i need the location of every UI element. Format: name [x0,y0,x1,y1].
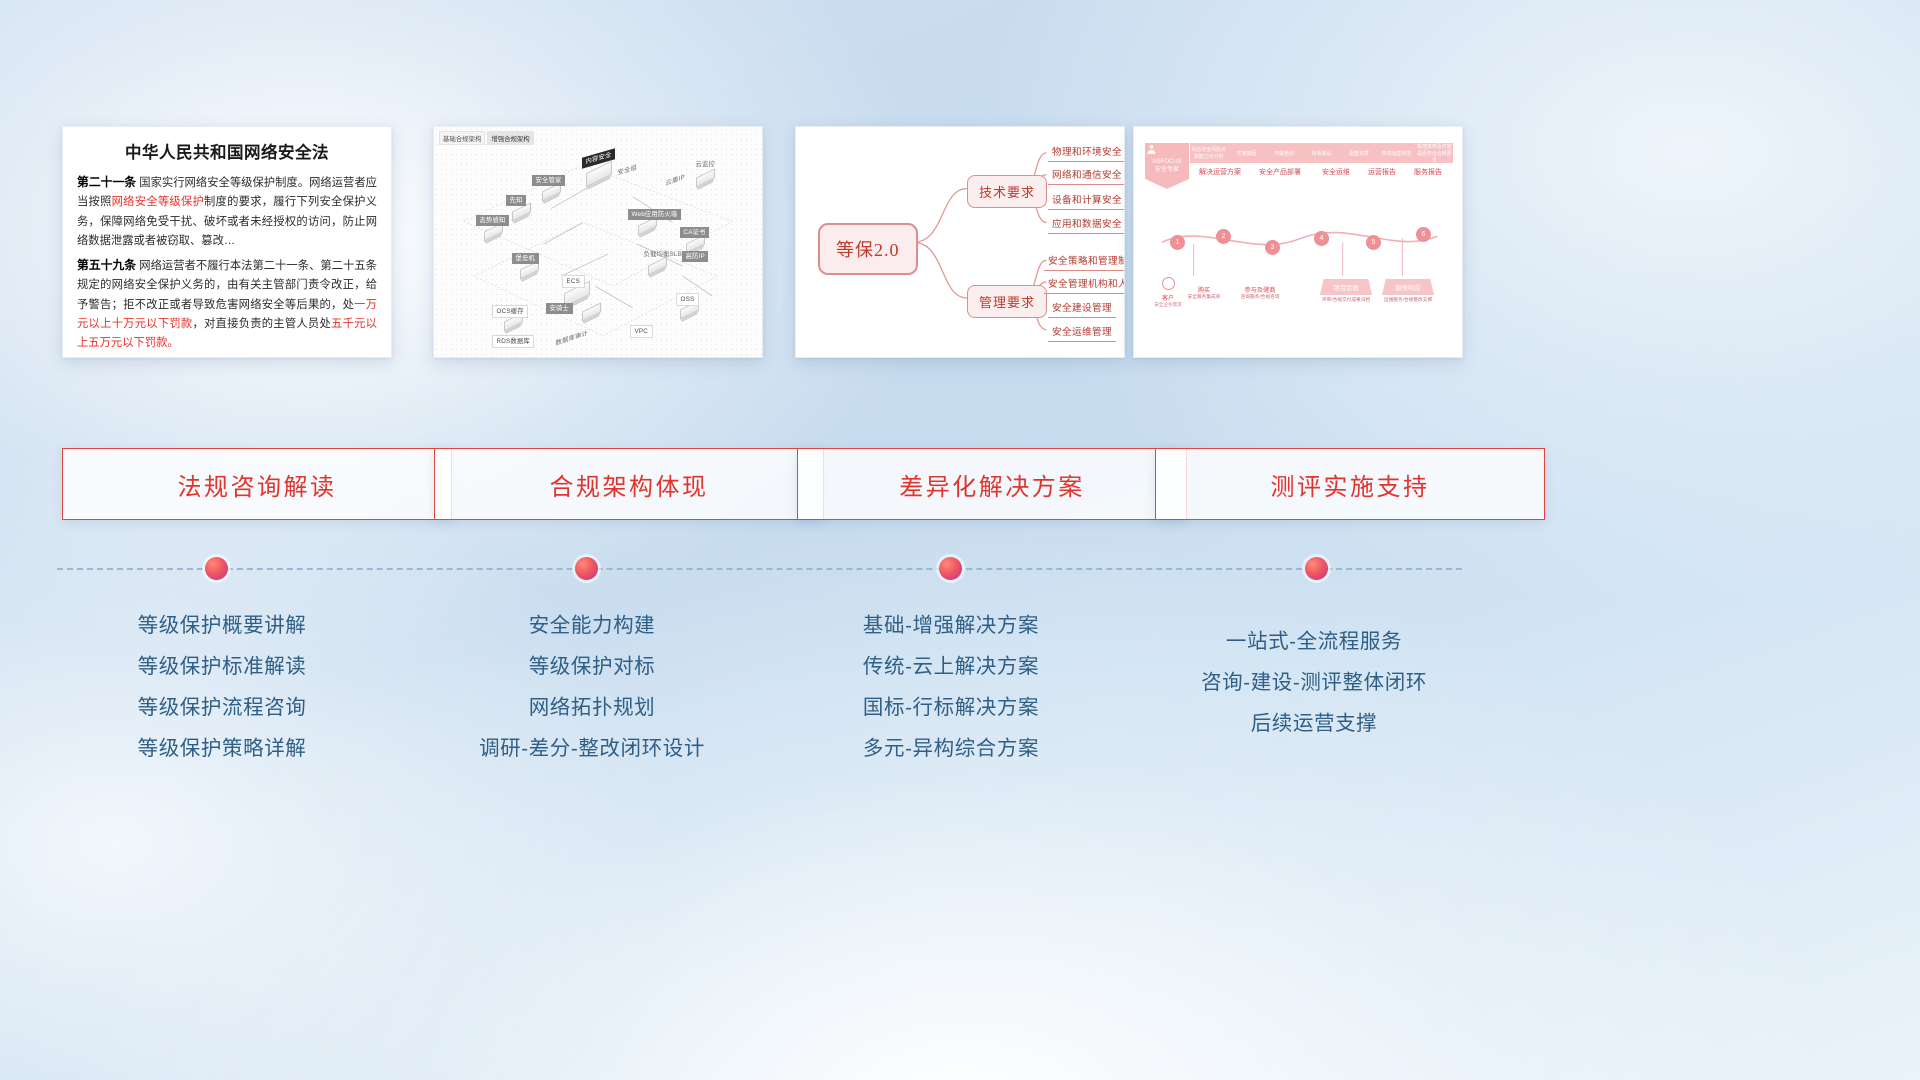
timeline-dot-4[interactable] [1305,557,1328,580]
law-body: 中华人民共和国网络安全法 第二十一条 国家实行网络安全等级保护制度。网络运营者应… [63,127,391,358]
law-article-59-text-b: ，对直接负责的主管人员处 [192,318,331,330]
tag-participate: 参与及磋商 咨询服务/合规咨询 [1232,285,1288,300]
trapezoid-service-response-sub: 运维服务/合规整改支撑 [1376,297,1440,303]
node-ca-certificate: CA证书 [680,227,709,238]
list-item: 一站式-全流程服务 [1114,621,1514,662]
customer-sublabel: 安全业务需求 [1148,302,1188,308]
heading-regulation-consulting-label: 法规咨询解读 [178,467,337,502]
heading-regulation-consulting[interactable]: 法规咨询解读 [62,448,452,520]
card-architecture: 基础合规架构 增强合规架构 [433,126,763,358]
step-dot-3: 3 [1265,240,1280,255]
mindmap-diagram: 等保2.0 技术要求 管理要求 物理和环境安全 网络和通信安全 设备和计算安全 … [796,127,1124,357]
list-item: 国标-行标解决方案 [751,687,1151,728]
tab-basic-compliance[interactable]: 基础合规架构 [439,131,485,145]
list-item: 传统-云上解决方案 [751,646,1151,687]
nsfocus-brand-line2: 安全专家 [1155,166,1179,174]
node-waf: Web应用防火墙 [628,209,681,220]
tag-purchase-sub: 安全服务集成商 [1186,294,1222,300]
ribbon-item-1: 实施加固 [1228,150,1266,157]
column-differentiated-solution: 基础-增强解决方案 传统-云上解决方案 国标-行标解决方案 多元-异构综合方案 [751,605,1151,769]
timeline-dot-2[interactable] [575,557,598,580]
card-law: 中华人民共和国网络安全法 第二十一条 国家实行网络安全等级保护制度。网络运营者应… [62,126,392,358]
node-cloud-monitor: 云监控 [692,159,719,170]
list-item: 后续运营支撑 [1114,703,1514,744]
roadmap-ribbon: 综合安全风险点和能力点分析 实施加固 开展培训 体系建设 配套支撑 形成运营规范… [1190,143,1453,163]
list-item: 等级保护对标 [392,646,792,687]
mindmap-leaf-app-data: 应用和数据安全 [1048,214,1125,234]
step-dot-1: 1 [1170,235,1185,250]
nsfocus-brand-line1: NSFOCUS [1152,158,1181,166]
trapezoid-service-response: 服务响应 [1382,279,1434,295]
list-item: 安全能力构建 [392,605,792,646]
architecture-diagram: 基础合规架构 增强合规架构 [434,127,762,357]
heading-compliance-architecture[interactable]: 合规架构体现 [434,448,824,520]
tag-purchase-title: 购买 [1186,285,1222,294]
mindmap-leaf-physical-env: 物理和环境安全 [1048,142,1125,162]
heading-assessment-support-label: 测评实施支持 [1271,467,1430,502]
ribbon-item-6: 规范落地及实施是否符合合规要求 [1415,143,1453,164]
node-rds-database: RDS数据库 [492,335,534,348]
bullet-columns: 等级保护概要讲解 等级保护标准解读 等级保护流程咨询 等级保护策略详解 安全能力… [0,605,1920,805]
ribbon-item-5: 形成运营规范 [1378,150,1416,157]
headings-row: 法规咨询解读 合规架构体现 差异化解决方案 测评实施支持 [0,448,1920,520]
list-item: 等级保护流程咨询 [22,687,422,728]
node-ecs: ECS [562,275,585,288]
node-anqishi: 安骑士 [546,303,573,314]
roadmap-diagram: NSFOCUS 安全专家 综合安全风险点和能力点分析 实施加固 开展培训 体系建… [1134,127,1462,357]
mindmap-leaf-ops-mgmt: 安全运维管理 [1048,322,1116,342]
heading-differentiated-solution-label: 差异化解决方案 [899,467,1085,502]
law-article-59: 第五十九条 网络运营者不履行本法第二十一条、第二十五条规定的网络安全保护义务的，… [77,255,377,354]
law-article-59-label: 第五十九条 [77,258,136,272]
service-service-report: 服务报告 [1398,167,1458,177]
timeline [57,568,1462,570]
node-situation-awareness: 态势感知 [476,215,509,226]
tab-enhanced-compliance[interactable]: 增强合规架构 [487,131,533,145]
column-assessment-support: 一站式-全流程服务 咨询-建设-测评整体闭环 后续运营支撑 [1114,621,1514,744]
timeline-dot-1[interactable] [205,557,228,580]
ribbon-item-4: 配套支撑 [1340,150,1378,157]
tag-purchase: 购买 安全服务集成商 [1186,285,1222,300]
tag-participate-title: 参与及磋商 [1232,285,1288,294]
law-article-21: 第二十一条 国家实行网络安全等级保护制度。网络运营者应当按照网络安全等级保护制度… [77,172,377,252]
list-item: 多元-异构综合方案 [751,728,1151,769]
node-anti-ddos-ip: 高防IP [682,251,708,262]
customer-person-icon [1162,277,1175,290]
mindmap-leaf-policy-system: 安全策略和管理制度 [1044,251,1125,271]
timeline-dot-3[interactable] [939,557,962,580]
step-dot-4: 4 [1314,231,1329,246]
law-article-21-highlight: 网络安全等级保护 [112,196,204,208]
customer-persona: 客户 安全业务需求 [1148,277,1188,308]
customer-label: 客户 [1148,293,1188,302]
column-regulation-consulting: 等级保护概要讲解 等级保护标准解读 等级保护流程咨询 等级保护策略详解 [22,605,422,769]
trapezoid-project-acceptance-sub: 评审/合规交付成果归档 [1314,297,1378,303]
service-product-deploy: 安全产品部署 [1250,167,1310,177]
list-item: 调研-差分-整改闭环设计 [392,728,792,769]
trapezoid-project-acceptance: 项目验收 [1320,279,1372,295]
card-roadmap: NSFOCUS 安全专家 综合安全风险点和能力点分析 实施加固 开展培训 体系建… [1133,126,1463,358]
mindmap-leaf-device-compute: 设备和计算安全 [1048,190,1125,210]
node-xianzhi: 先知 [506,195,526,206]
poster-stage: 中华人民共和国网络安全法 第二十一条 国家实行网络安全等级保护制度。网络运营者应… [0,0,1920,1080]
step-dot-5: 5 [1366,235,1381,250]
ribbon-item-0: 综合安全风险点和能力点分析 [1190,146,1228,160]
node-ocs-cache: OCS缓存 [492,305,528,318]
tag-participate-sub: 咨询服务/合规咨询 [1232,294,1288,300]
law-article-21-label: 第二十一条 [77,175,136,189]
mindmap-root: 等保2.0 [818,223,918,275]
node-oss: OSS [676,293,699,306]
list-item: 等级保护策略详解 [22,728,422,769]
node-bastion-host: 堡垒机 [512,253,539,264]
cards-row: 中华人民共和国网络安全法 第二十一条 国家实行网络安全等级保护制度。网络运营者应… [0,126,1920,361]
mindmap-branch-technical: 技术要求 [967,175,1047,208]
heading-differentiated-solution[interactable]: 差异化解决方案 [797,448,1187,520]
node-vpc: VPC [630,325,653,338]
list-item: 等级保护概要讲解 [22,605,422,646]
node-slb: 负载均衡SLB [640,249,686,260]
mindmap-branch-management: 管理要求 [967,285,1047,318]
timeline-dashed-line [57,568,1462,570]
service-solution-plan: 解决运营方案 [1190,167,1250,177]
list-item: 咨询-建设-测评整体闭环 [1114,662,1514,703]
heading-compliance-architecture-label: 合规架构体现 [550,467,709,502]
law-title: 中华人民共和国网络安全法 [77,139,377,163]
ribbon-item-2: 开展培训 [1265,150,1303,157]
list-item: 网络拓扑规划 [392,687,792,728]
mindmap-leaf-org-personnel: 安全管理机构和人员 [1044,274,1125,294]
list-item: 基础-增强解决方案 [751,605,1151,646]
mindmap-leaf-network-comm: 网络和通信安全 [1048,165,1125,185]
heading-assessment-support[interactable]: 测评实施支持 [1155,448,1545,520]
column-compliance-architecture: 安全能力构建 等级保护对标 网络拓扑规划 调研-差分-整改闭环设计 [392,605,792,769]
card-mindmap: 等保2.0 技术要求 管理要求 物理和环境安全 网络和通信安全 设备和计算安全 … [795,126,1125,358]
ribbon-item-3: 体系建设 [1303,150,1341,157]
list-item: 等级保护标准解读 [22,646,422,687]
node-security-butler: 安全管家 [532,175,565,186]
mindmap-leaf-construction-mgmt: 安全建设管理 [1048,298,1116,318]
step-dot-2: 2 [1216,229,1231,244]
expert-person-icon [1145,143,1158,156]
architecture-tabs: 基础合规架构 增强合规架构 [439,131,534,145]
step-dot-6: 6 [1416,227,1431,242]
